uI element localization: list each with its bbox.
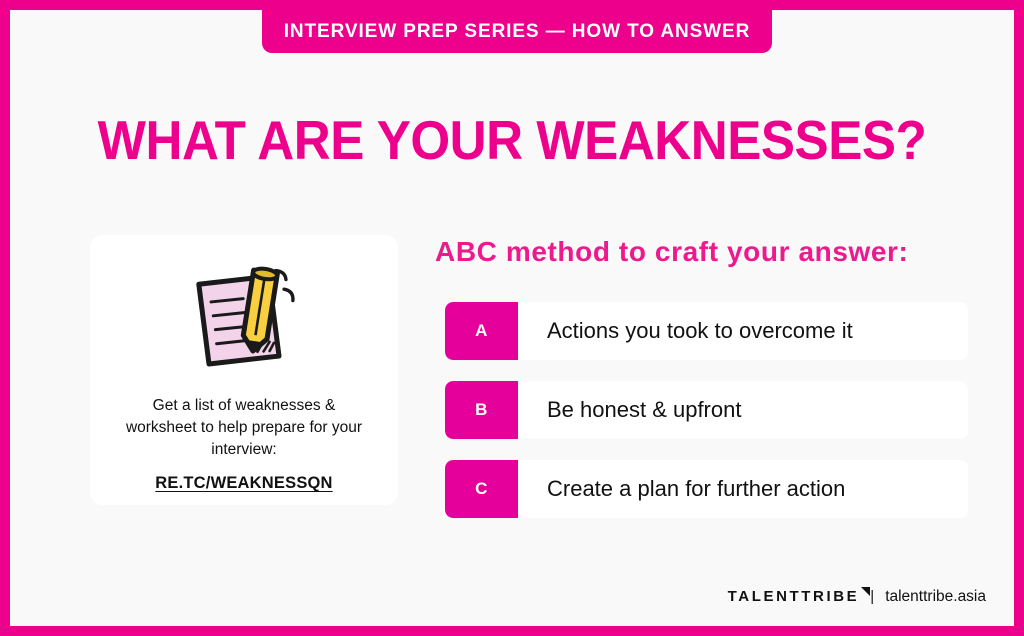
- series-ribbon-badge: INTERVIEW PREP SERIES — HOW TO ANSWER: [262, 10, 772, 53]
- series-ribbon-label: INTERVIEW PREP SERIES — HOW TO ANSWER: [284, 22, 751, 41]
- card-description: Get a list of weaknesses & worksheet to …: [119, 395, 369, 461]
- list-item: A Actions you took to overcome it: [445, 302, 968, 360]
- row-text-b: Be honest & upfront: [518, 381, 968, 439]
- notepad-pencil-illustration: [174, 259, 314, 381]
- lead-magnet-card: Get a list of weaknesses & worksheet to …: [90, 235, 398, 505]
- poster-frame: INTERVIEW PREP SERIES — HOW TO ANSWER WH…: [10, 10, 1014, 626]
- row-text-c: Create a plan for further action: [518, 460, 968, 518]
- brand-wordmark-label: TALENTTRIBE: [728, 588, 860, 605]
- worksheet-link[interactable]: RE.TC/WEAKNESSQN: [155, 474, 332, 493]
- abc-method-list: A Actions you took to overcome it B Be h…: [445, 302, 968, 518]
- footer-website-url: talenttribe.asia: [885, 589, 986, 605]
- list-item: B Be honest & upfront: [445, 381, 968, 439]
- brand-wordmark: TALENTTRIBE: [728, 589, 860, 604]
- brand-flag-icon: [861, 584, 870, 593]
- abc-method-heading: ABC method to craft your answer:: [435, 238, 908, 266]
- row-letter-badge-c: C: [445, 460, 518, 518]
- list-item: C Create a plan for further action: [445, 460, 968, 518]
- row-letter-badge-a: A: [445, 302, 518, 360]
- footer-branding: TALENTTRIBE | talenttribe.asia: [728, 589, 986, 605]
- row-text-a: Actions you took to overcome it: [518, 302, 968, 360]
- row-letter-badge-b: B: [445, 381, 518, 439]
- page-title: WHAT ARE YOUR WEAKNESSES?: [45, 113, 979, 168]
- footer-divider: |: [870, 589, 874, 604]
